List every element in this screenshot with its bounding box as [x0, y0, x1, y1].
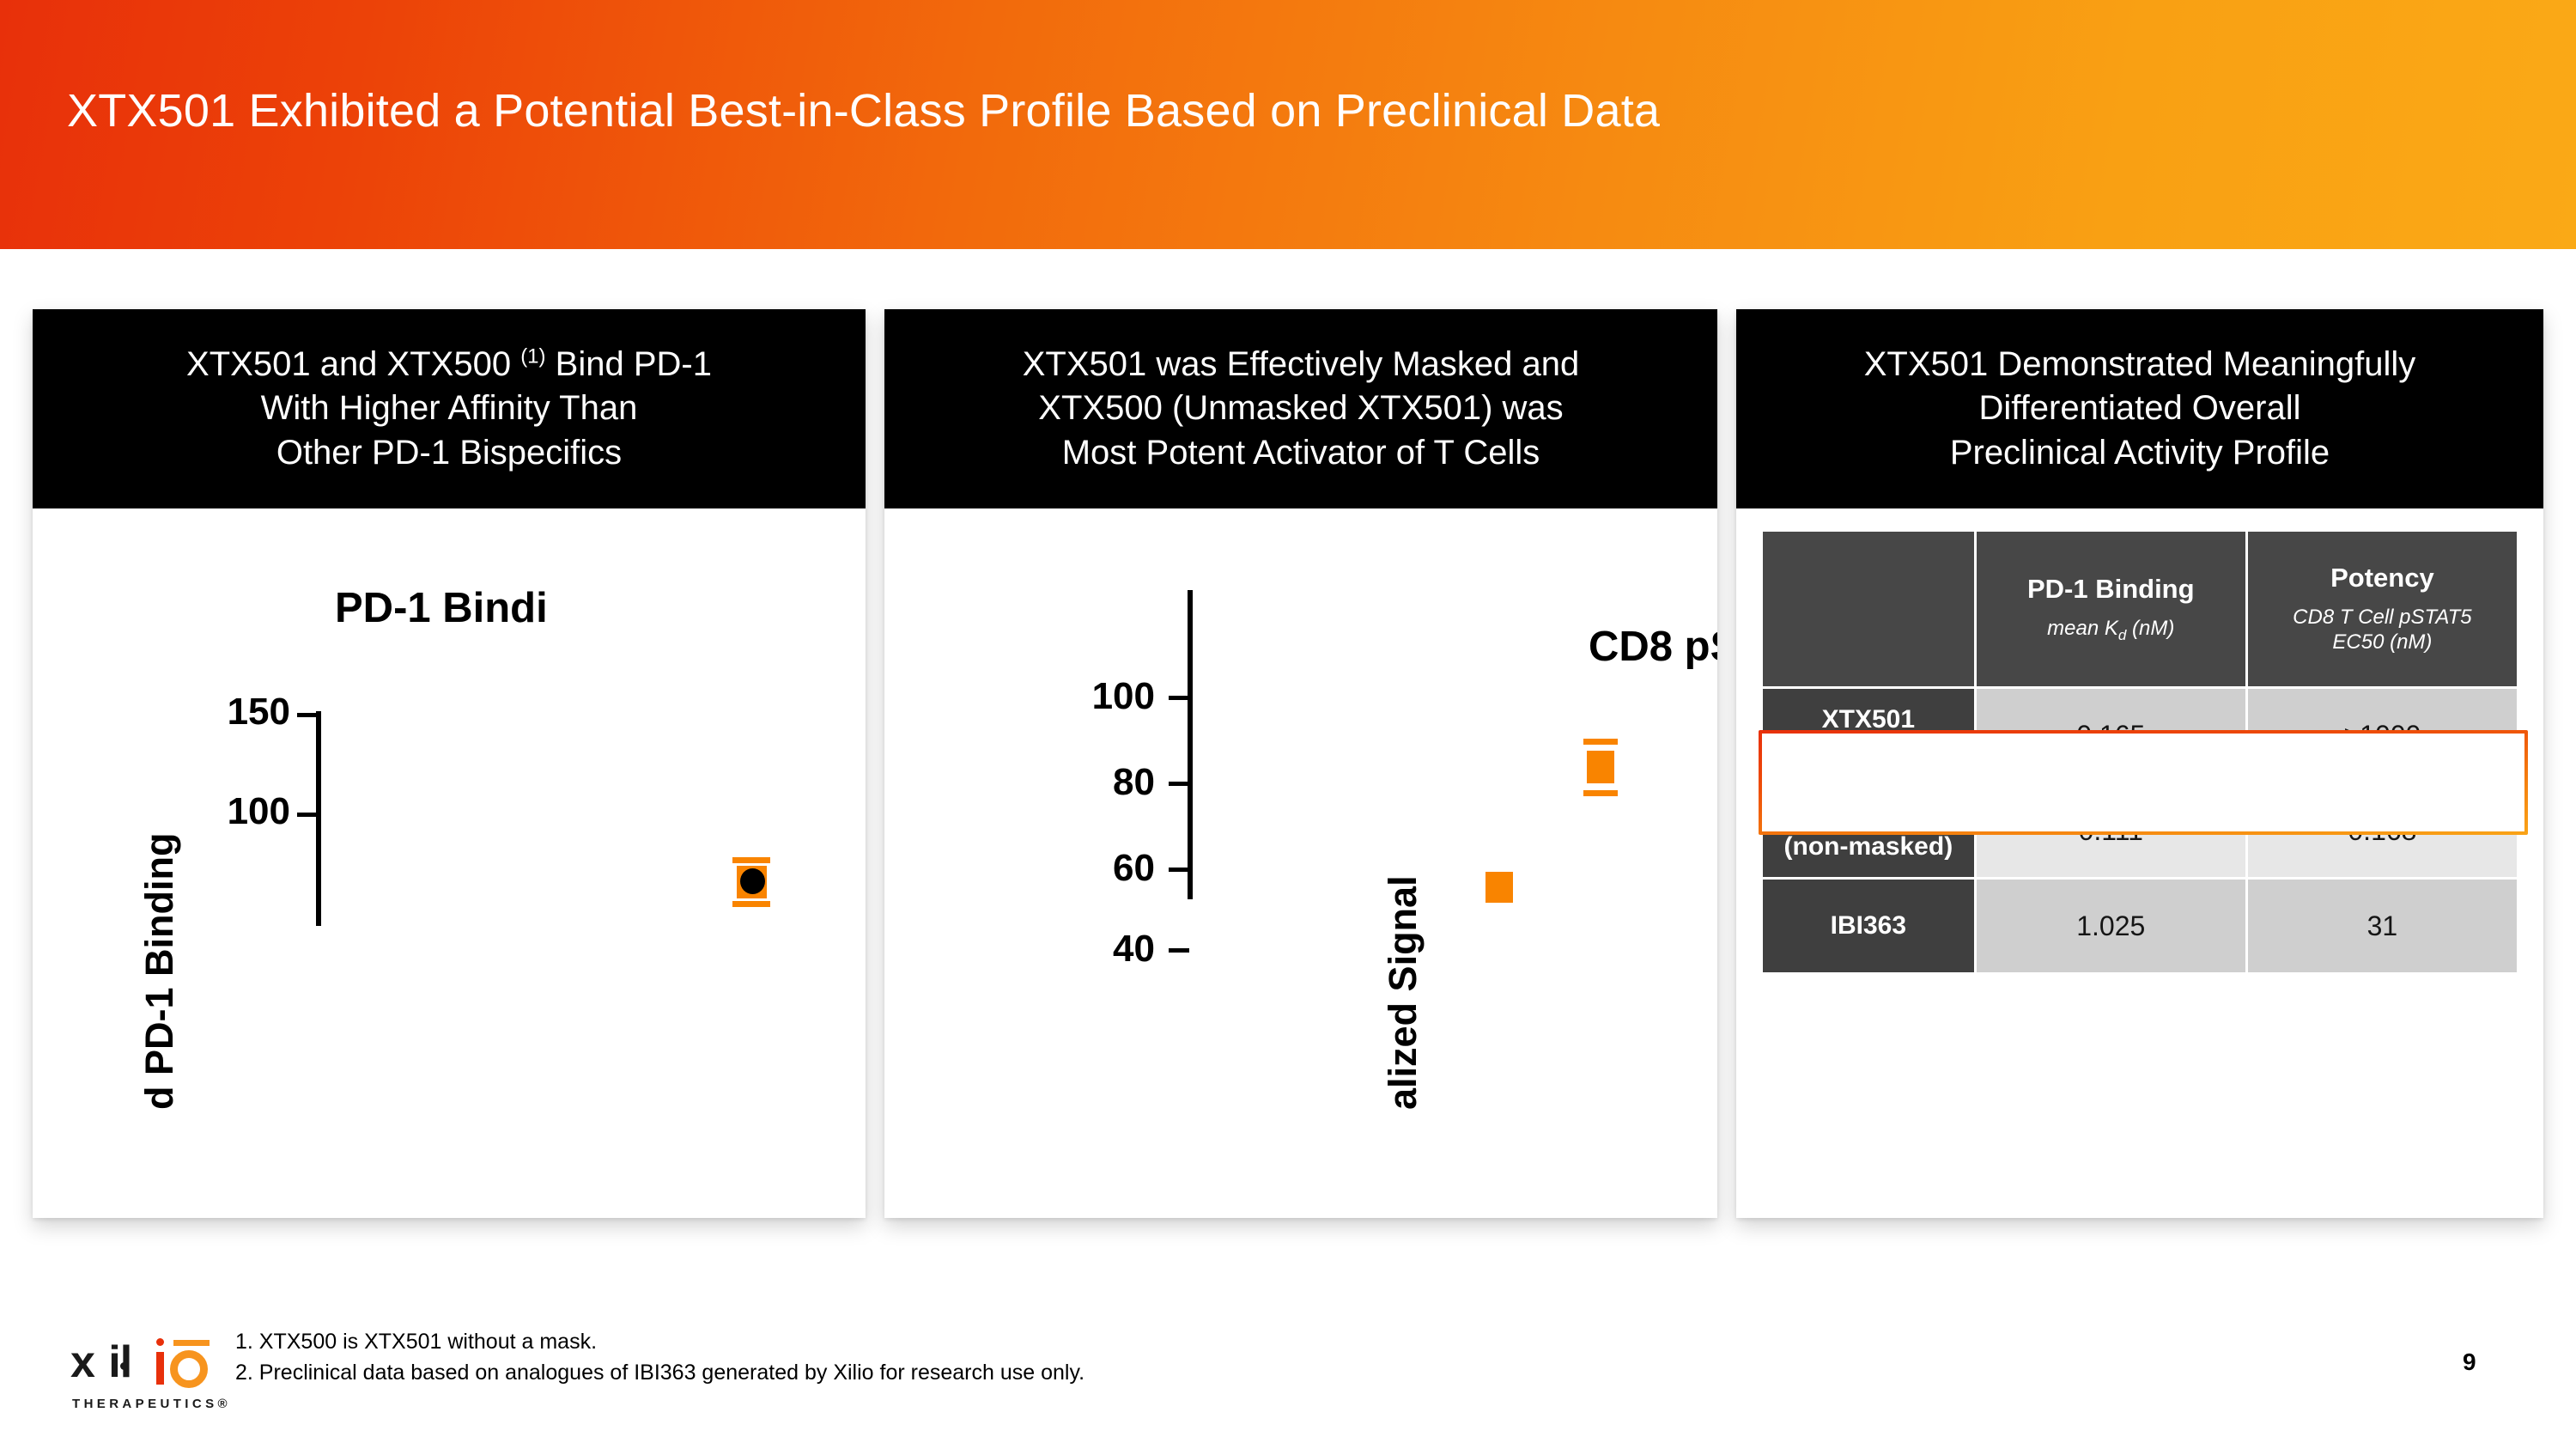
table-row-label-xtx500: XTX500 (1) (non-masked) — [1763, 784, 1974, 877]
sub-post: (nM) — [2126, 617, 2174, 640]
footnote-1: 1. XTX500 is XTX501 without a mask. — [235, 1326, 1084, 1357]
logo-orange-o-ring — [170, 1350, 208, 1388]
panel-cd8-pstat5-header: XTX501 was Effectively Masked and XTX500… — [884, 309, 1717, 508]
chart-tick-label-40: 40 — [1009, 928, 1155, 971]
table-row[interactable]: XTX500 (1) (non-masked) 0.111 0.168 — [1763, 784, 2517, 877]
chart-y-axis-label: d PD-1 Binding — [137, 833, 182, 1110]
chart-tick-label-100: 100 — [1009, 675, 1155, 718]
row-label-line-1: IBI363 — [1831, 911, 1906, 940]
panel-activity-table-header: XTX501 Demonstrated Meaningfully Differe… — [1736, 309, 2543, 508]
panel-pd1-binding-body: PD-1 Bindi d PD-1 Binding 150 100 — [33, 508, 866, 1218]
table-col-pd1-binding: PD-1 Binding mean Kd (nM) — [1977, 532, 2245, 686]
table-cell-potency: 31 — [2248, 880, 2517, 972]
panel-activity-table-body: PD-1 Binding mean Kd (nM) Potency CD8 T … — [1736, 508, 2543, 1218]
chart-tick-60 — [1169, 868, 1189, 872]
table-cell-pd1-binding: 1.025 — [1977, 880, 2245, 972]
registered-mark: ® — [217, 1397, 230, 1411]
chart-error-cap-lower — [732, 901, 770, 907]
chart-marker-square-1 — [1485, 872, 1513, 903]
panel-activity-table-heading: XTX501 Demonstrated Meaningfully Differe… — [1842, 343, 2439, 475]
logo-letters-il: il — [108, 1337, 131, 1387]
panel-cd8-pstat5-heading: XTX501 was Effectively Masked and XTX500… — [1000, 343, 1601, 475]
table-cell-potency: >1000 — [2248, 689, 2517, 782]
row-label-footnote-marker: (1) — [1908, 799, 1929, 818]
chart-title: PD-1 Bindi — [335, 584, 548, 632]
sub-pre: mean K — [2047, 617, 2118, 640]
row-label-line-1: XTX500 — [1807, 801, 1908, 829]
panel-pd1-binding-heading: XTX501 and XTX500 (1) Bind PD-1 With Hig… — [164, 343, 734, 475]
heading-footnote-marker: (1) — [520, 345, 545, 368]
table-cell-pd1-binding: 0.165 — [1977, 689, 2245, 782]
chart-tick-label-100: 100 — [127, 790, 290, 833]
panel-cd8-pstat5-body: CD8 pSTA alized Signal 100 80 60 40 — [884, 508, 1717, 1218]
table-cell-pd1-binding: 0.111 — [1977, 784, 2245, 877]
logo-letter-x: x — [70, 1337, 94, 1387]
heading-line-2: XTX500 (Unmasked XTX501) was — [1038, 389, 1563, 427]
chart-tick-label-150: 150 — [127, 691, 290, 734]
sub-line-2: EC50 (nM) — [2332, 630, 2432, 654]
table-header-row: PD-1 Binding mean Kd (nM) Potency CD8 T … — [1763, 532, 2517, 686]
chart-error-cap-upper — [1583, 739, 1618, 745]
table-col-potency-title: Potency — [2248, 563, 2517, 594]
table-col-pd1-binding-title: PD-1 Binding — [1977, 574, 2245, 605]
panel-activity-table: XTX501 Demonstrated Meaningfully Differe… — [1736, 309, 2543, 1218]
sub-line-1: CD8 T Cell pSTAT5 — [2293, 606, 2472, 629]
chart-y-axis-label: alized Signal — [1381, 875, 1425, 1110]
chart-tick-150 — [297, 713, 318, 717]
logo-tagline-text: THERAPEUTICS — [72, 1397, 217, 1411]
chart-y-axis-line — [316, 711, 321, 926]
chart-tick-40 — [1169, 948, 1189, 953]
table-row[interactable]: XTX501 (masked) 0.165 >1000 — [1763, 689, 2517, 782]
page-title: XTX501 Exhibited a Potential Best-in-Cla… — [67, 86, 2385, 137]
panel-pd1-binding-header: XTX501 and XTX500 (1) Bind PD-1 With Hig… — [33, 309, 866, 508]
logo-dot-separator — [120, 1362, 128, 1370]
heading-line-3: Most Potent Activator of T Cells — [1062, 434, 1540, 472]
page-number: 9 — [2463, 1349, 2476, 1376]
chart-tick-label-80: 80 — [1009, 761, 1155, 804]
logo-orange-bar — [173, 1340, 210, 1346]
heading-line-3: Preclinical Activity Profile — [1950, 434, 2330, 472]
row-label-line-2: (masked) — [1812, 737, 1925, 765]
heading-line-2: Differentiated Overall — [1979, 389, 2301, 427]
chart-title: CD8 pSTA — [1589, 623, 1717, 671]
table-corner-cell — [1763, 532, 1974, 686]
heading-line-2: With Higher Affinity Than — [261, 389, 638, 427]
heading-line-1: XTX501 was Effectively Masked and — [1023, 345, 1579, 383]
heading-line-3: Other PD-1 Bispecifics — [276, 434, 622, 472]
row-label-line-2: (non-masked) — [1784, 832, 1953, 861]
table-row-label-ibi363: IBI363 — [1763, 880, 1974, 972]
table-col-potency-subtitle: CD8 T Cell pSTAT5 EC50 (nM) — [2248, 606, 2517, 655]
activity-comparison-table: PD-1 Binding mean Kd (nM) Potency CD8 T … — [1760, 529, 2519, 975]
heading-line-1-part-a: XTX501 and XTX500 — [186, 345, 520, 383]
footnote-2: 2. Preclinical data based on analogues o… — [235, 1357, 1084, 1388]
panel-row: XTX501 and XTX500 (1) Bind PD-1 With Hig… — [0, 309, 2576, 1220]
pd1-binding-chart: PD-1 Bindi d PD-1 Binding 150 100 — [33, 508, 866, 1218]
sub-subscript: d — [2118, 627, 2126, 643]
table-cell-potency: 0.168 — [2248, 784, 2517, 877]
heading-line-1-part-b: Bind PD-1 — [546, 345, 712, 383]
panel-cd8-pstat5: XTX501 was Effectively Masked and XTX500… — [884, 309, 1717, 1218]
table-col-pd1-binding-subtitle: mean Kd (nM) — [1977, 617, 2245, 644]
logo-red-i-dot — [156, 1338, 164, 1346]
chart-tick-100 — [1169, 696, 1189, 700]
row-label-line-1: XTX501 — [1822, 705, 1915, 734]
footnotes: 1. XTX500 is XTX501 without a mask. 2. P… — [235, 1326, 1084, 1389]
chart-tick-label-60: 60 — [1009, 847, 1155, 890]
xilio-logo: x·il THERAPEUTICS® — [70, 1336, 225, 1419]
cd8-pstat5-chart: CD8 pSTA alized Signal 100 80 60 40 — [884, 508, 1717, 1218]
logo-red-i-stem — [156, 1352, 164, 1385]
table-row-label-xtx501: XTX501 (masked) — [1763, 689, 1974, 782]
chart-marker-dot — [740, 868, 765, 894]
panel-pd1-binding: XTX501 and XTX500 (1) Bind PD-1 With Hig… — [33, 309, 866, 1218]
chart-tick-100 — [297, 813, 318, 817]
heading-line-1: XTX501 Demonstrated Meaningfully — [1864, 345, 2416, 383]
chart-y-axis-line — [1188, 590, 1193, 899]
slide-header-band: XTX501 Exhibited a Potential Best-in-Cla… — [0, 0, 2576, 249]
table-col-potency: Potency CD8 T Cell pSTAT5 EC50 (nM) — [2248, 532, 2517, 686]
logo-tagline: THERAPEUTICS® — [72, 1397, 231, 1411]
chart-marker-square-2 — [1587, 751, 1614, 783]
table-row[interactable]: IBI363 1.025 31 — [1763, 880, 2517, 972]
chart-tick-80 — [1169, 782, 1189, 786]
chart-error-cap-lower — [1583, 790, 1618, 796]
chart-error-cap-upper — [732, 857, 770, 863]
